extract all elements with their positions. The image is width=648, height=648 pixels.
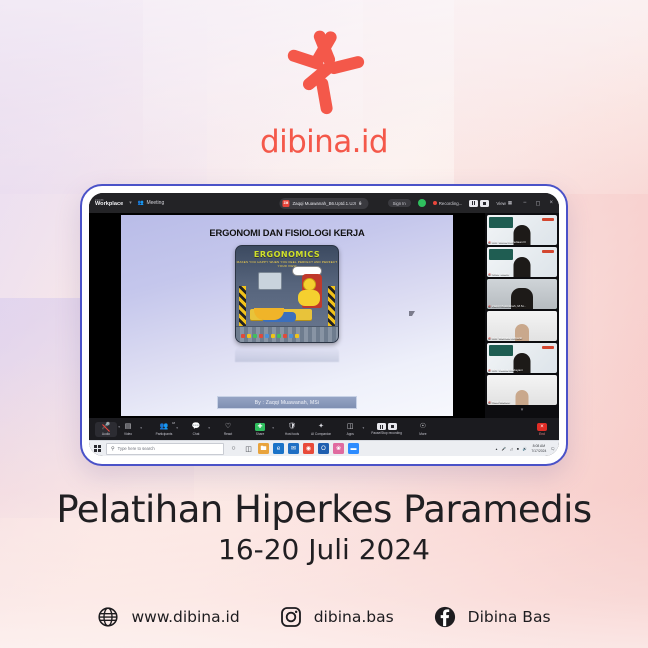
apps-icon: ◫ [347,423,354,431]
chevron-up-icon[interactable]: ▾ [176,426,178,430]
mic-muted-icon: ⏿ [488,304,490,308]
instagram-icon [280,606,302,628]
footer-facebook[interactable]: Dibina Bas [434,606,551,628]
footer-contact-bar: www.dibina.id dibina.bas Dibina Bas [0,606,648,628]
end-meeting-button[interactable]: × End [531,423,553,436]
task-view-icon[interactable]: ◫ [243,443,254,454]
video-button[interactable]: ▤ Video ▾ [117,423,139,436]
slide-title: ERGONOMI DAN FISIOLOGI KERJA [209,227,364,238]
maximize-icon[interactable]: ◻ [536,200,541,207]
participant-name: 006_Melda Kemuliaan D [492,240,526,244]
facebook-icon [434,606,456,628]
participant-name: 006_Marinda Juliyanti [492,336,522,340]
zoom-tab-icon: ZM [282,200,289,207]
apps-label: Apps [347,432,354,436]
participant-name: Hauji Mahesi [492,400,510,404]
mail-icon[interactable]: ✉ [288,443,299,454]
zoom-app-icon[interactable]: ▬ [348,443,359,454]
participant-tile-active[interactable]: ⏿ Zaqqi Muawanah, M.Si... [487,279,557,309]
photos-icon[interactable]: ❀ [333,443,344,454]
zoom-meeting-label: Meeting [146,200,164,206]
close-icon[interactable]: × [549,200,553,206]
mic-muted-icon: ⏿ [488,336,490,340]
audio-button[interactable]: 🎤 Audio ▾ [95,422,117,437]
clock-time: 8:08 AM [533,444,545,448]
search-placeholder: Type here to search [118,446,155,451]
shared-screen-stage: ERGONOMI DAN FISIOLOGI KERJA ERGONOMICS … [89,213,485,418]
participant-name: Nhila_ekaris [492,272,509,276]
view-menu[interactable]: View ▦ [496,200,512,206]
close-circle-icon[interactable]: ⍬ [359,201,362,206]
asterisk-flower-icon [278,26,370,118]
participant-tile[interactable]: ⏿ Hauji Mahesi [487,375,557,405]
event-dates: 16-20 Juli 2024 [0,533,648,566]
mouse-cursor-icon [409,311,415,316]
notification-icon[interactable]: 🗨 [550,447,555,451]
battery-icon[interactable]: ■ [517,447,519,451]
clock-date: 7/17/2024 [531,449,546,453]
tablet-device: zoom Workplace ▾ 👥 Meeting ZM Zaqqi Muaw… [80,184,568,466]
chevron-down-icon[interactable]: ▾ [487,407,557,413]
shield-check-icon[interactable] [418,199,426,207]
search-input[interactable]: ⚲ Type here to search [106,443,224,455]
slide-image-reflection [235,346,339,362]
taskbar-clock[interactable]: 8:08 AM 7/17/2024 [531,444,546,453]
tablet-screen: zoom Workplace ▾ 👥 Meeting ZM Zaqqi Muaw… [89,193,559,456]
sign-in-button[interactable]: Sign In [388,199,411,207]
globe-icon [97,606,119,628]
participant-tile[interactable]: ⏿ 006_Marinda Juliyanti [487,311,557,341]
zoom-tab-label: Zaqqi Muawanah_B6.Uptd.1.UJI [292,201,355,206]
more-button[interactable]: ☉ More [412,423,434,436]
zoom-meeting-tab[interactable]: ZM Zaqqi Muawanah_B6.Uptd.1.UJI ⍬ [279,198,368,209]
mic-muted-icon: ⏿ [488,272,490,276]
chat-bubble-icon: 💬 [192,423,201,431]
participants-button[interactable]: 18 👥 Participants ▾ [153,423,175,436]
pause-stop-label: Pause/Stop recording [371,431,402,435]
brand-wordmark: dibina.id [260,124,388,160]
recording-status[interactable]: Recording... [433,201,463,206]
participant-tile[interactable]: ⏿ Nhila_ekaris [487,247,557,277]
share-screen-icon: ✚ [255,423,264,431]
zoom-workplace-brand: zoom Workplace [95,199,123,208]
footer-website[interactable]: www.dibina.id [97,606,239,628]
end-call-icon: × [537,423,547,431]
zoom-meeting-menu[interactable]: 👥 Meeting [138,200,165,206]
participants-label: Participants [156,432,173,436]
chevron-up-icon[interactable]: ▾ [272,426,274,430]
ellipsis-icon: ☉ [420,423,426,431]
presentation-slide: ERGONOMI DAN FISIOLOGI KERJA ERGONOMICS … [121,215,454,416]
cartoon-tray [254,308,284,320]
cartoon-character-body [298,290,320,306]
view-label: View [496,201,505,206]
participants-count: 18 [172,422,175,425]
zoom-brand-main: Workplace [95,202,123,208]
recording-controls[interactable] [469,200,489,207]
cartoon-title: ERGONOMICS [236,250,338,259]
participant-filmstrip[interactable]: ⏿ 006_Melda Kemuliaan D ⏿ Nhila_ekaris ⏿… [485,213,559,418]
chat-button[interactable]: 💬 Chat ▾ [185,423,207,436]
chrome-icon[interactable]: ◉ [303,443,314,454]
footer-website-label: www.dibina.id [131,608,239,626]
camera-icon: ▤ [125,423,132,431]
apps-button[interactable]: ◫ Apps ▾ [339,423,361,436]
recording-label: Recording... [439,201,463,206]
chevron-down-icon[interactable]: ▾ [129,200,132,206]
outlook-icon[interactable]: O [318,443,329,454]
pause-stop-icon [377,423,397,430]
ai-companion-button[interactable]: ✦ AI Companion [309,423,333,436]
pause-stop-recording-button[interactable]: Pause/Stop recording [369,423,404,435]
sparkle-icon: ✦ [318,423,324,431]
participant-name: 005_Fadela Risdayani [492,368,523,372]
participant-tile[interactable]: ⏿ 006_Melda Kemuliaan D [487,215,557,245]
file-explorer-icon[interactable]: 🖿 [258,443,269,454]
cartoon-hazard-left [239,286,246,326]
zoom-titlebar-right: Sign In Recording... View ▦ − ◻ × [388,199,553,207]
people-icon: 👥 [138,200,144,206]
host-tools-button[interactable]: 🛡 Host tools [281,423,303,436]
chat-label: Chat [193,432,200,436]
more-label: More [419,432,426,436]
react-label: React [224,432,232,436]
event-headline: Pelatihan Hiperkes Paramedis 16-20 Juli … [0,488,648,566]
footer-instagram-label: dibina.bas [314,608,394,626]
footer-instagram[interactable]: dibina.bas [280,606,394,628]
mic-muted-icon: ⏿ [488,368,490,372]
chevron-up-icon[interactable]: ▴ [496,447,498,451]
cortana-icon[interactable]: ○ [228,443,239,454]
windows-taskbar: ⚲ Type here to search ○ ◫ 🖿 e ✉ ◉ O ❀ ▬ … [89,440,559,456]
mic-muted-icon: ⏿ [488,240,490,244]
shield-icon: 🛡 [288,423,297,431]
edge-icon[interactable]: e [273,443,284,454]
video-label: Video [124,432,132,436]
chevron-up-icon[interactable]: ▾ [362,426,364,430]
windows-start-icon[interactable] [93,444,102,453]
end-label: End [539,432,545,436]
zoom-control-bar: 🎤 Audio ▾ ▤ Video ▾ 18 👥 Participants ▾ … [89,418,559,440]
grid-icon: ▦ [508,200,512,206]
cartoon-hazard-right [328,286,335,326]
share-screen-button[interactable]: ✚ Share ▾ [249,423,271,436]
zoom-titlebar: zoom Workplace ▾ 👥 Meeting ZM Zaqqi Muaw… [89,193,559,213]
chevron-up-icon[interactable]: ▾ [140,426,142,430]
wifi-icon[interactable]: ◿ [510,447,513,451]
cartoon-control-panel [236,332,338,340]
cartoon-subtitle: MAKES YOU HAPPY WHEN YOU FEEL PERFECT AN… [236,260,338,268]
react-button[interactable]: ♡ React [217,423,239,436]
chevron-up-icon[interactable]: ▾ [208,426,210,430]
speaker-icon[interactable]: 🔊 [523,447,527,451]
window-controls: − ◻ × [523,200,553,207]
slide-byline: By : Zaqqi Muawanah, MSi [217,396,357,409]
page-title: Pelatihan Hiperkes Paramedis [0,488,648,531]
participant-tile[interactable]: ⏿ 005_Fadela Risdayani [487,343,557,373]
brand-logo-block: dibina.id [0,26,648,160]
footer-facebook-label: Dibina Bas [468,608,551,626]
stop-icon[interactable] [480,200,489,207]
cartoon-monitor [258,272,282,290]
record-dot-icon [433,201,437,205]
ai-companion-label: AI Companion [311,432,331,436]
people-icon: 👥 [160,423,169,431]
pause-icon[interactable] [469,200,478,207]
minimize-icon[interactable]: − [523,200,527,206]
zoom-meeting-body: ERGONOMI DAN FISIOLOGI KERJA ERGONOMICS … [89,213,559,418]
ergonomics-cartoon-image: ERGONOMICS MAKES YOU HAPPY WHEN YOU FEEL… [235,245,339,343]
participant-name: Zaqqi Muawanah, M.Si... [492,304,526,308]
host-tools-label: Host tools [285,432,299,436]
share-label: Share [256,432,265,436]
search-icon: ⚲ [111,446,115,452]
mic-muted-icon: ⏿ [488,400,490,404]
system-tray: ▴ 🎤 ◿ ■ 🔊 8:08 AM 7/17/2024 🗨 [496,444,555,453]
microphone-icon[interactable]: 🎤 [501,447,505,451]
heart-icon: ♡ [225,423,231,431]
